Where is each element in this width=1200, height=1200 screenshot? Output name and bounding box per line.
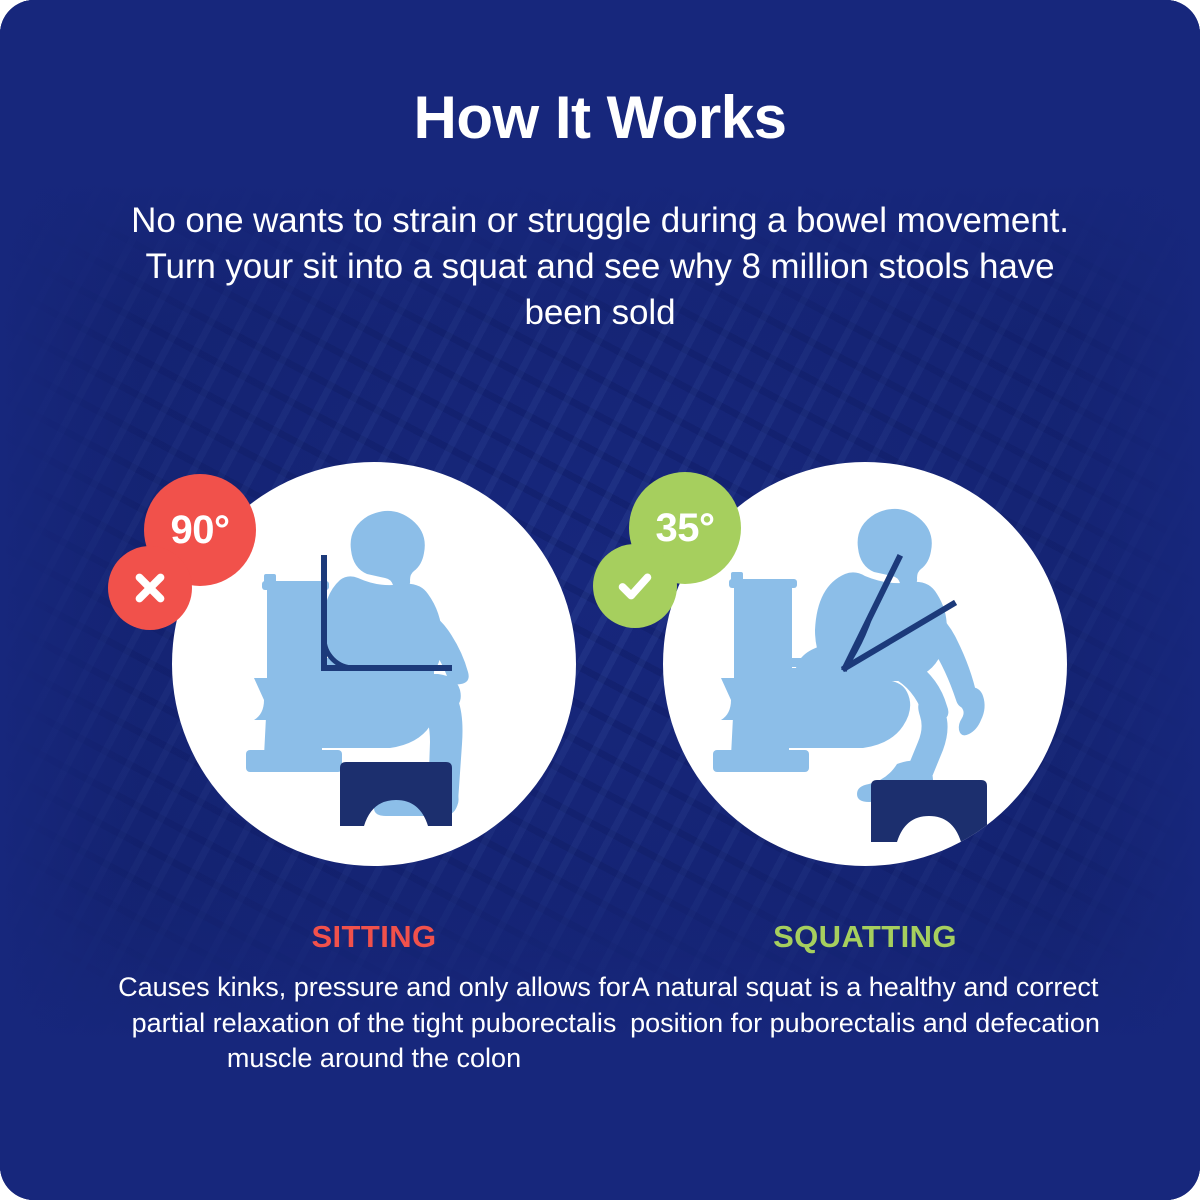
squatty-potty-stool [871, 780, 987, 842]
caption-body-sitting: Causes kinks, pressure and only allows f… [94, 970, 654, 1077]
squatty-potty-stool [340, 762, 452, 826]
squatting-person-silhouette [795, 509, 985, 803]
cross-icon [127, 565, 173, 611]
page-title: How It Works [0, 88, 1200, 148]
status-badge-incorrect [108, 546, 192, 630]
caption-heading-squatting: SQUATTING [585, 919, 1145, 955]
caption-heading-sitting: SITTING [94, 919, 654, 955]
infographic-poster: How It Works No one wants to strain or s… [0, 0, 1200, 1200]
caption-body-squatting: A natural squat is a healthy and correct… [585, 970, 1145, 1041]
page-subtitle: No one wants to strain or struggle durin… [110, 198, 1090, 337]
poster-content: How It Works No one wants to strain or s… [0, 0, 1200, 1200]
status-badge-correct [593, 544, 677, 628]
check-icon [612, 563, 658, 609]
